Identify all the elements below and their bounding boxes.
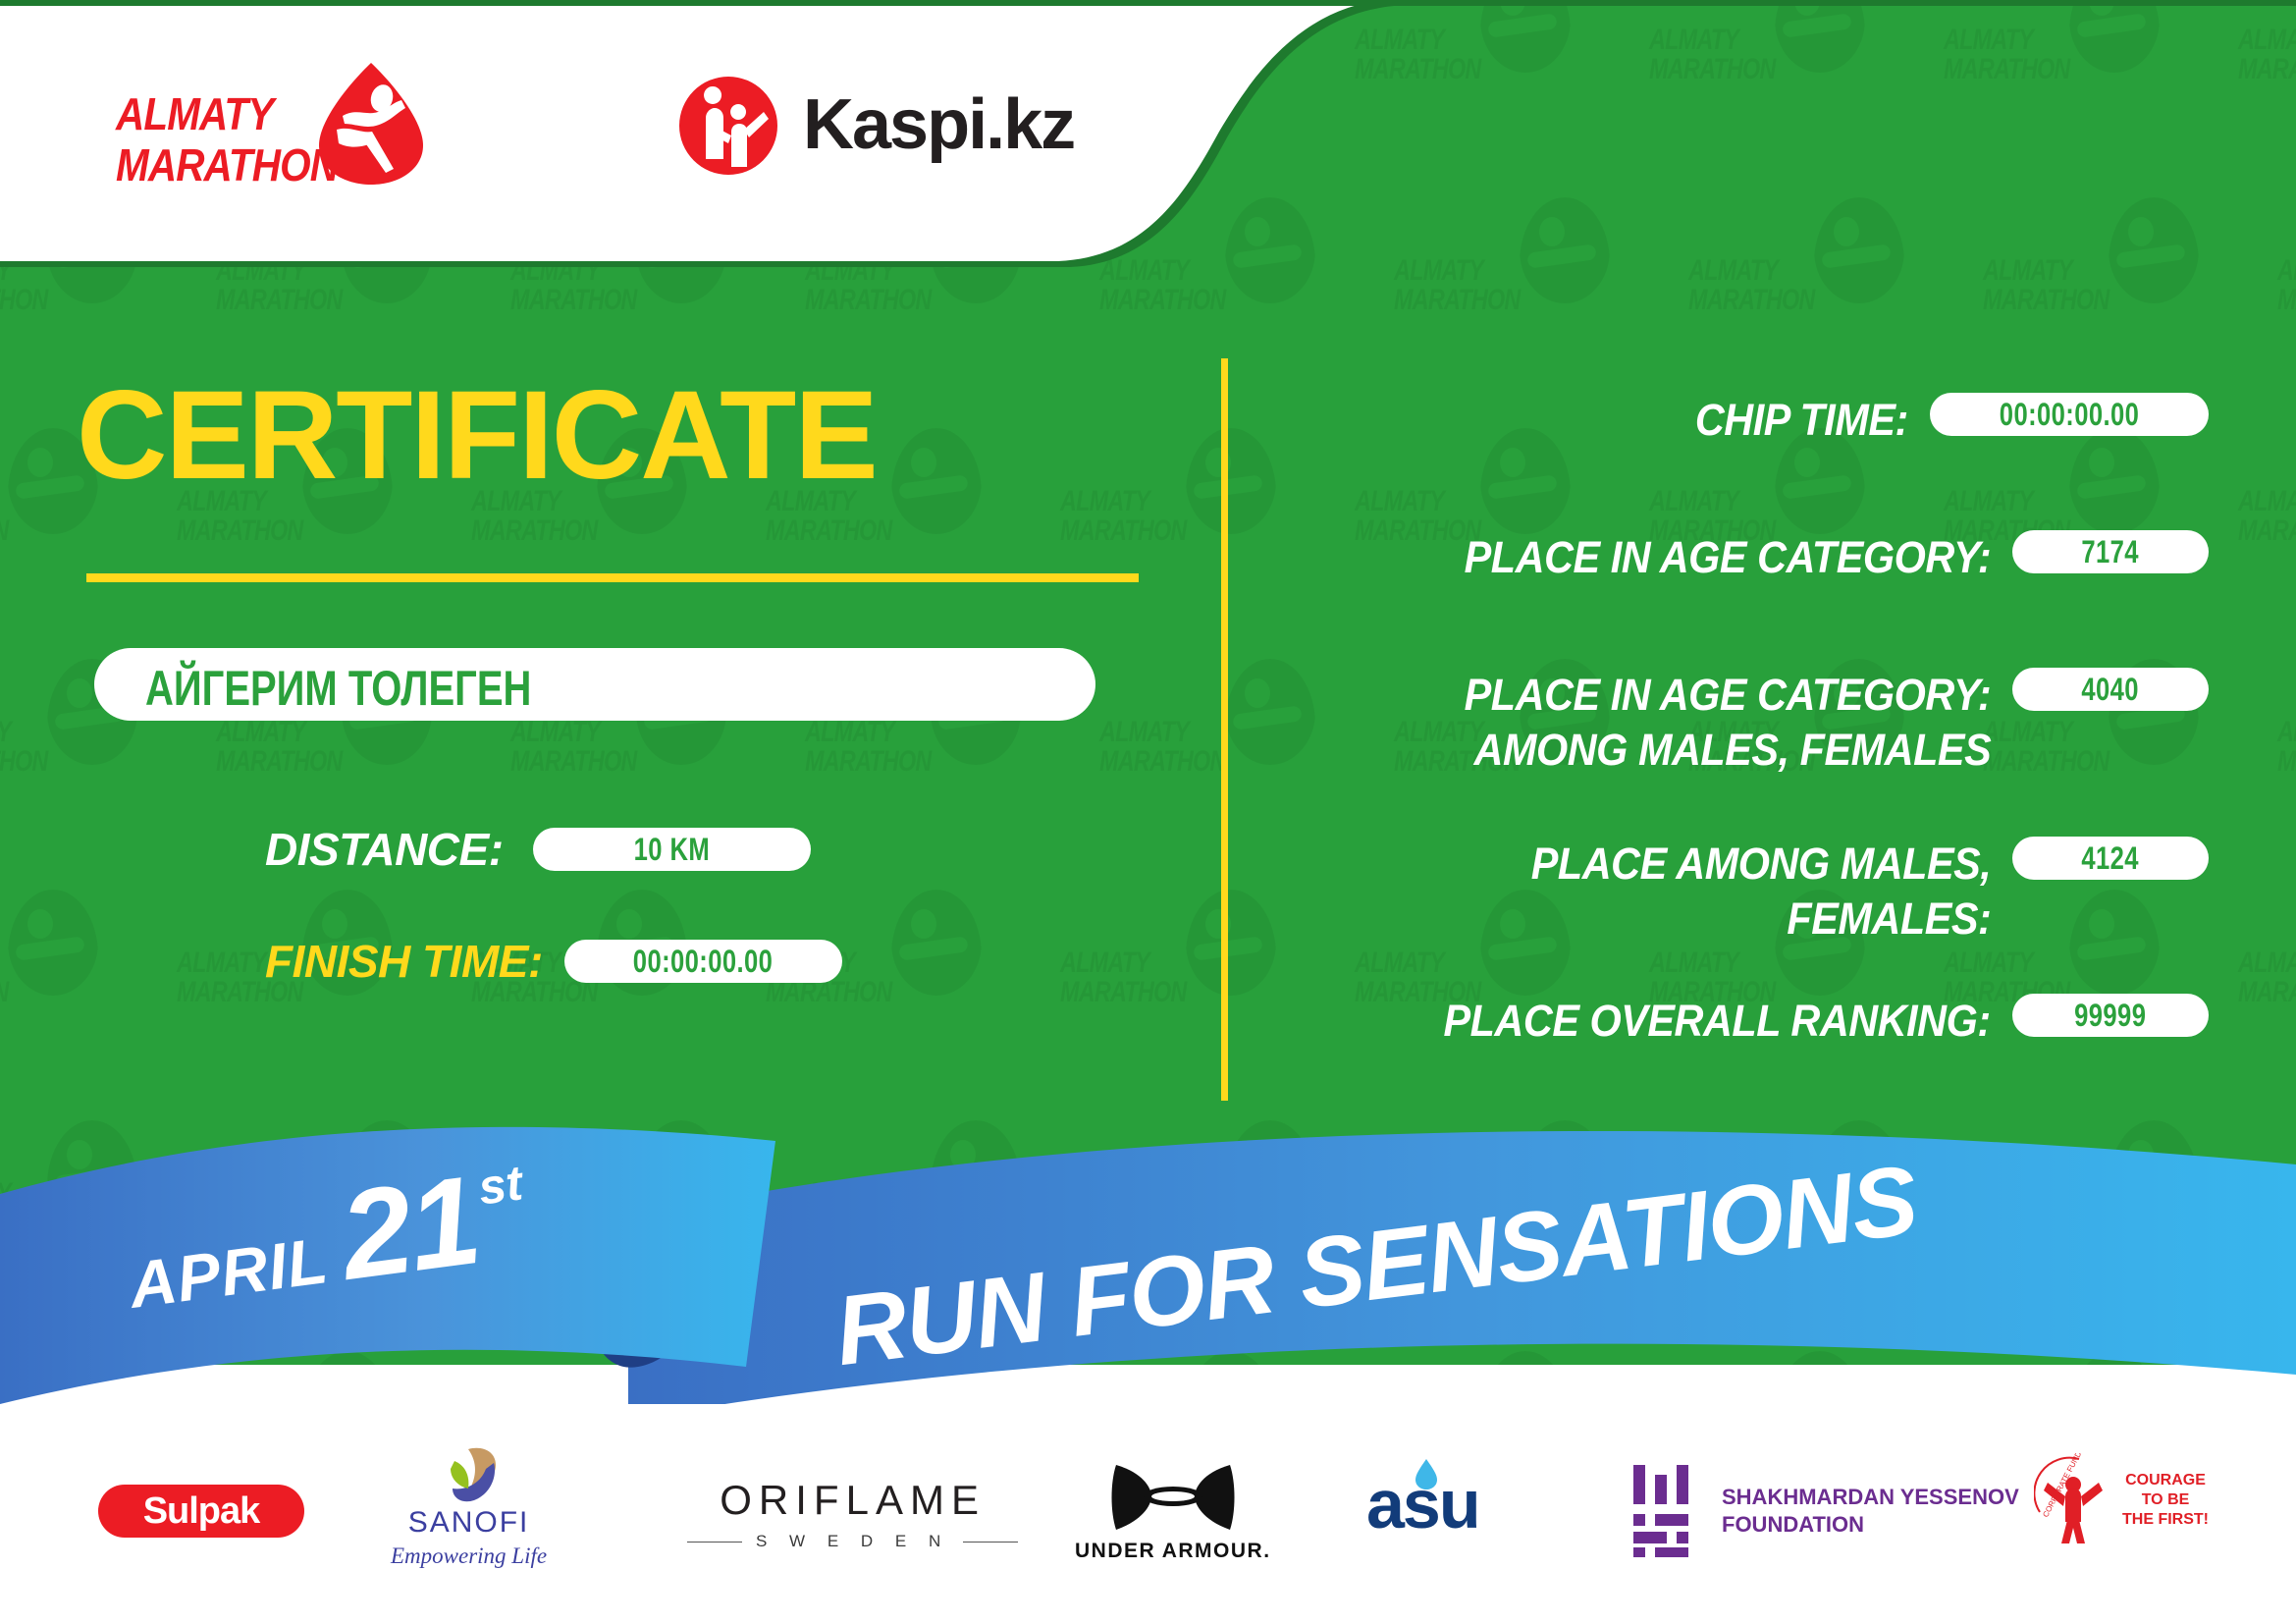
yessenov-wordmark: SHAKHMARDAN YESSENOV FOUNDATION (1722, 1484, 2019, 1539)
place-overall-value-pill: 99999 (2012, 994, 2209, 1037)
courage-label-line-1: COURAGE (2122, 1471, 2209, 1490)
asu-wordmark: asu (1366, 1465, 1479, 1543)
certificate-page: ALMATYMARATHONALMATYMARATHONALMATYMARATH… (0, 0, 2296, 1624)
watermark-text: ALMATYMARATHON (0, 487, 5, 546)
sulpak-badge: Sulpak (98, 1485, 304, 1538)
watermark-tile: ALMATYMARATHON (1688, 172, 1934, 358)
event-day: 21 (333, 1148, 486, 1309)
watermark-drop-icon (1775, 0, 1865, 73)
place-age-category-gender-value-pill: 4040 (2012, 668, 2209, 711)
sanofi-tagline: Empowering Life (391, 1543, 547, 1569)
logo-line-1: ALMATY (116, 88, 273, 139)
courage-label-line-2: TO BE (2122, 1490, 2209, 1510)
watermark-tile: ALMATYMARATHON (1060, 403, 1306, 589)
logo-line-2: MARATHON (116, 139, 338, 190)
watermark-text: ALMATYMARATHON (2238, 948, 2296, 1007)
watermark-text: ALMATYMARATHON (1649, 26, 1772, 84)
watermark-drop-icon (8, 890, 98, 996)
place-age-category-value: 7174 (2082, 534, 2140, 570)
place-age-category-gender-value: 4040 (2082, 672, 2140, 708)
watermark-tile: ALMATYMARATHON (2238, 0, 2296, 128)
place-age-category-gender-label: PLACE IN AGE CATEGORY: AMONG MALES, FEMA… (1464, 668, 1991, 778)
oriflame-tagline: S W E D E N (756, 1532, 949, 1551)
distance-label: DISTANCE: (265, 823, 504, 876)
watermark-tile: ALMATYMARATHON (2238, 864, 2296, 1051)
watermark-tile: ALMATYMARATHON (2277, 172, 2296, 358)
place-overall-label: PLACE OVERALL RANKING: (1444, 994, 1991, 1049)
watermark-tile: ALMATYMARATHON (2238, 403, 2296, 589)
yessenov-bars-icon (1629, 1465, 1696, 1557)
kaspi-logo-text: Kaspi.kz (803, 84, 1074, 165)
sponsor-logo-sulpak: Sulpak (98, 1485, 304, 1538)
kaspi-logo: Kaspi.kz (677, 69, 1090, 185)
sponsor-logo-yessenov-foundation: SHAKHMARDAN YESSENOV FOUNDATION (1629, 1465, 2019, 1557)
place-age-category-label: PLACE IN AGE CATEGORY: (1464, 530, 1991, 585)
finish-time-value-pill: 00:00:00.00 (564, 940, 842, 983)
courage-figure-icon: CORPORATE FUND (2034, 1453, 2109, 1547)
watermark-drop-icon (2069, 0, 2160, 73)
watermark-text: ALMATYMARATHON (1060, 948, 1183, 1007)
sponsor-strip: Sulpak SANOFI Empowering Life ORIFLAME S… (0, 1404, 2296, 1624)
distance-value-pill: 10 KM (533, 828, 811, 871)
place-age-category-row: PLACE IN AGE CATEGORY: 7174 (1306, 530, 2209, 585)
under-armour-label: UNDER ARMOUR. (1075, 1540, 1271, 1563)
watermark-drop-icon (1186, 890, 1276, 996)
place-age-category-gender-row: PLACE IN AGE CATEGORY: AMONG MALES, FEMA… (1306, 668, 2209, 778)
distance-value: 10 KM (633, 832, 709, 868)
watermark-text: ALMATYMARATHON (2277, 718, 2296, 777)
asu-drop-icon (1414, 1457, 1439, 1490)
courage-wordmark: COURAGE TO BE THE FIRST! (2122, 1471, 2209, 1530)
watermark-text: ALMATYMARATHON (1060, 487, 1183, 546)
participant-name-value: АЙГЕРИМ ТОЛЕГЕН (145, 660, 531, 717)
watermark-drop-icon (2109, 197, 2199, 303)
courage-label-line-3: THE FIRST! (2122, 1510, 2209, 1530)
place-among-gender-row: PLACE AMONG MALES, FEMALES: 4124 (1306, 837, 2209, 947)
watermark-text: ALMATYMARATHON (1944, 26, 2066, 84)
place-among-gender-value: 4124 (2082, 840, 2140, 877)
watermark-tile: ALMATYMARATHON (1394, 172, 1639, 358)
page-title: CERTIFICATE (77, 373, 877, 499)
column-divider (1221, 358, 1228, 1101)
sponsor-logo-under-armour: UNDER ARMOUR. (1075, 1461, 1271, 1563)
sulpak-label: Sulpak (143, 1490, 260, 1533)
chip-time-label: CHIP TIME: (1695, 393, 1908, 448)
place-among-gender-value-pill: 4124 (2012, 837, 2209, 880)
chip-time-value: 00:00:00.00 (2000, 397, 2139, 433)
almaty-marathon-logo: ALMATYMARATHON (116, 61, 440, 198)
place-among-gender-label: PLACE AMONG MALES, FEMALES: (1530, 837, 1991, 947)
watermark-tile: ALMATYMARATHON (1944, 0, 2189, 128)
watermark-text: ALMATYMARATHON (510, 718, 633, 777)
watermark-tile: ALMATYMARATHON (1983, 172, 2228, 358)
chip-time-row: CHIP TIME: 00:00:00.00 (1306, 393, 2209, 448)
watermark-text: ALMATYMARATHON (0, 948, 5, 1007)
oriflame-label: ORIFLAME (720, 1477, 986, 1524)
sponsor-logo-courage-fund: CORPORATE FUND COURAGE TO BE THE FIRST! (2034, 1453, 2209, 1547)
chip-time-value-pill: 00:00:00.00 (1930, 393, 2209, 436)
watermark-tile: ALMATYMARATHON (2277, 633, 2296, 820)
watermark-text: ALMATYMARATHON (1983, 256, 2106, 315)
watermark-text: ALMATYMARATHON (1688, 256, 1811, 315)
watermark-tile: ALMATYMARATHON (1060, 864, 1306, 1051)
watermark-text: ALMATYMARATHON (1394, 256, 1517, 315)
oriflame-tagline-row: S W E D E N (687, 1532, 1018, 1551)
watermark-text: ALMATYMARATHON (2277, 256, 2296, 315)
under-armour-icon (1104, 1461, 1242, 1534)
sponsor-logo-sanofi: SANOFI Empowering Life (391, 1445, 547, 1569)
watermark-text: ALMATYMARATHON (0, 718, 44, 777)
sanofi-bird-icon (425, 1445, 513, 1506)
top-green-rule (0, 0, 2296, 6)
watermark-drop-icon (1225, 659, 1315, 765)
watermark-drop-icon (891, 890, 982, 996)
watermark-drop-icon (1186, 428, 1276, 534)
watermark-drop-icon (1480, 0, 1571, 73)
finish-time-row: FINISH TIME: 00:00:00.00 (265, 935, 842, 988)
watermark-text: ALMATYMARATHON (2238, 487, 2296, 546)
sponsor-logo-oriflame: ORIFLAME S W E D E N (687, 1477, 1018, 1551)
sponsor-logo-asu: asu (1366, 1465, 1479, 1543)
watermark-text: ALMATYMARATHON (2238, 26, 2296, 84)
finish-time-label: FINISH TIME: (265, 935, 543, 988)
watermark-text: ALMATYMARATHON (216, 718, 339, 777)
oriflame-rule-right (963, 1542, 1018, 1543)
watermark-drop-icon (1814, 197, 1904, 303)
distance-row: DISTANCE: 10 KM (265, 823, 811, 876)
finish-time-value: 00:00:00.00 (633, 944, 773, 980)
kaspi-people-circle-icon (677, 75, 779, 177)
watermark-tile: ALMATYMARATHON (0, 864, 128, 1051)
title-underline (86, 573, 1139, 582)
event-day-suffix: st (475, 1154, 526, 1216)
watermark-drop-icon (1520, 197, 1610, 303)
almaty-marathon-logo-text: ALMATYMARATHON (116, 88, 338, 190)
place-overall-row: PLACE OVERALL RANKING: 99999 (1306, 994, 2209, 1049)
runner-drop-icon (317, 61, 425, 187)
watermark-drop-icon (891, 428, 982, 534)
yessenov-label-line-2: FOUNDATION (1722, 1511, 2019, 1539)
watermark-tile: ALMATYMARATHON (1649, 0, 1895, 128)
event-month: APRIL (125, 1222, 332, 1323)
place-overall-value: 99999 (2074, 998, 2146, 1034)
sanofi-label: SANOFI (408, 1506, 530, 1540)
oriflame-rule-left (687, 1542, 742, 1543)
place-age-category-value-pill: 7174 (2012, 530, 2209, 573)
yessenov-label-line-1: SHAKHMARDAN YESSENOV (1722, 1484, 2019, 1511)
watermark-text: ALMATYMARATHON (805, 718, 928, 777)
watermark-text: ALMATYMARATHON (1099, 718, 1222, 777)
